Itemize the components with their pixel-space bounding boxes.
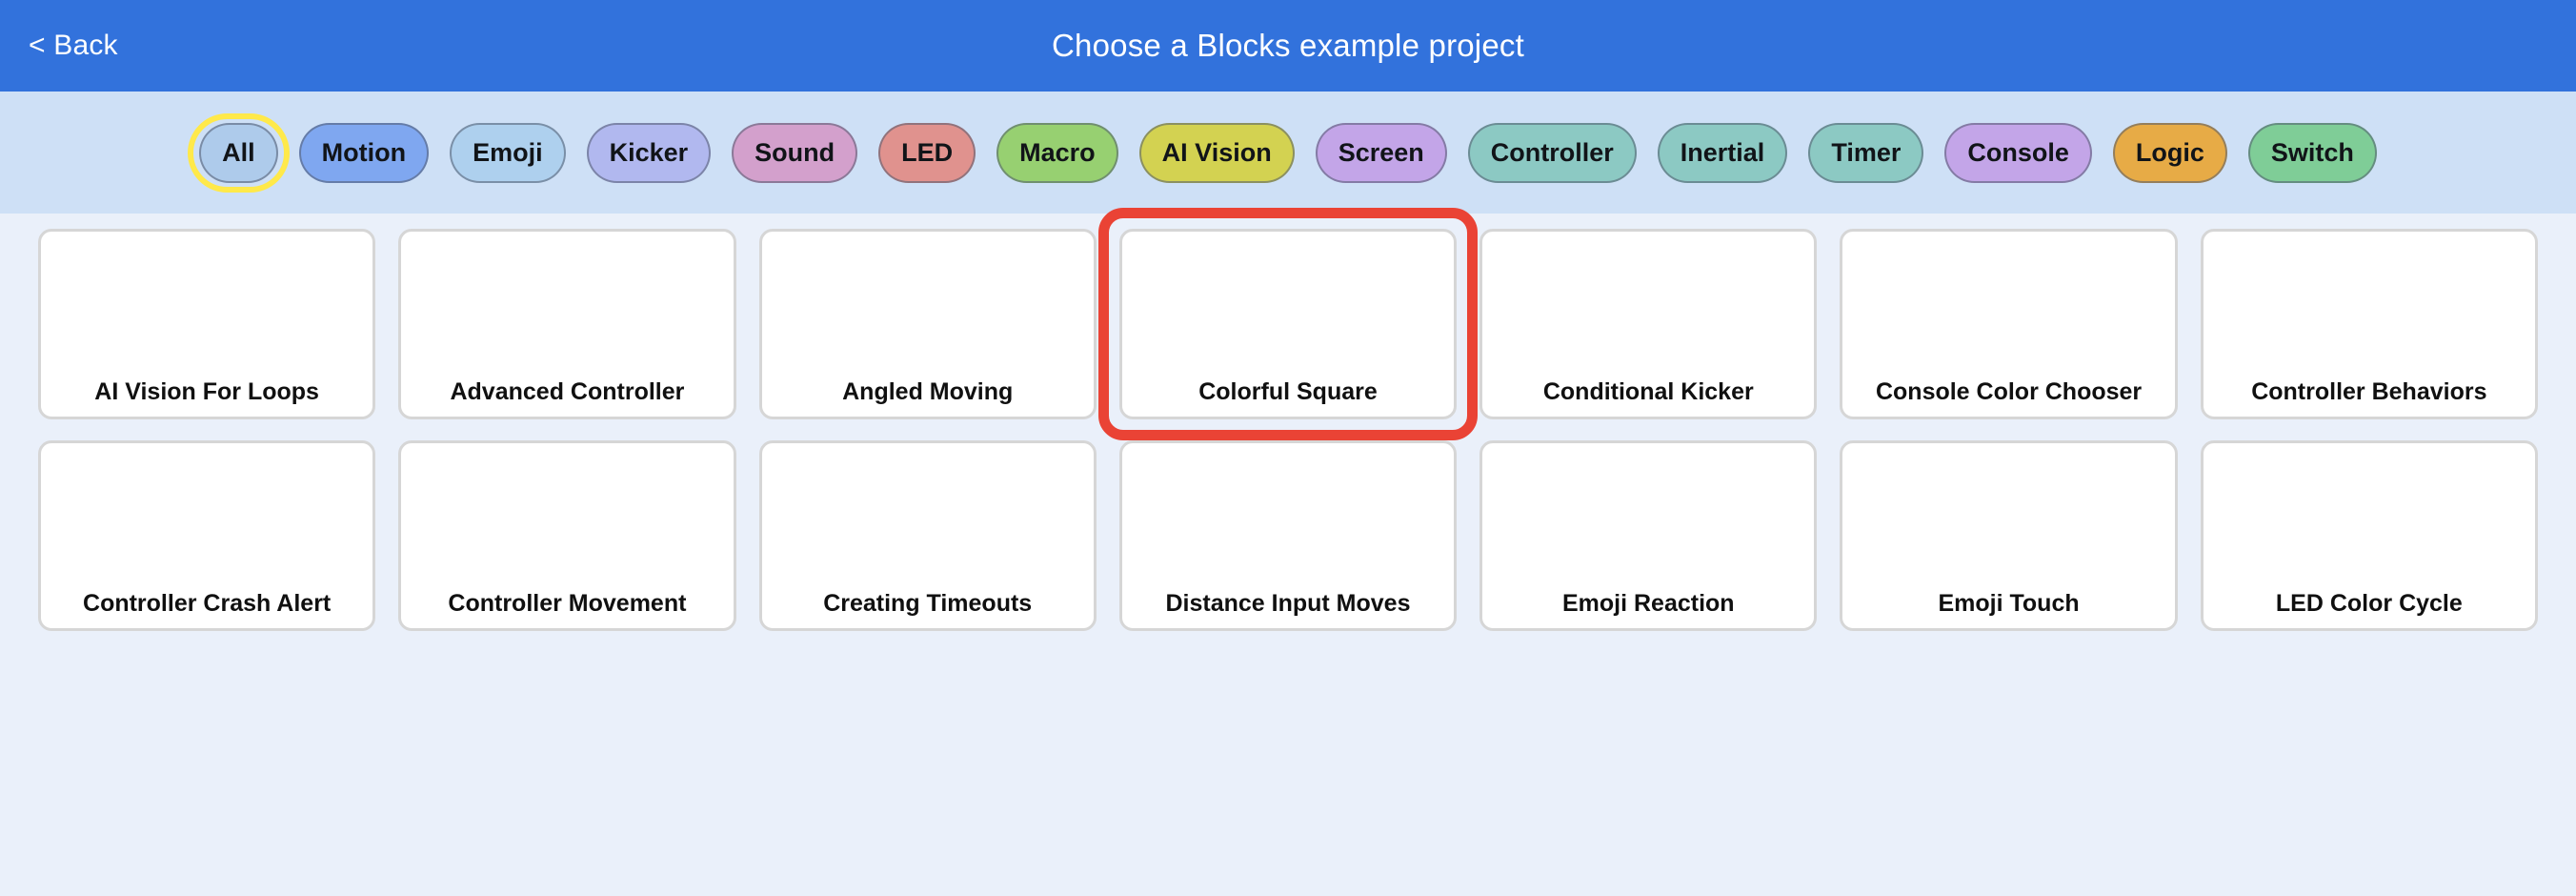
project-card-slot: Colorful Square	[1119, 229, 1457, 419]
filter-chip-label[interactable]: Kicker	[587, 123, 712, 183]
project-card-angled-moving[interactable]: Angled Moving	[759, 229, 1097, 419]
filter-chip-controller[interactable]: Controller	[1468, 123, 1637, 183]
project-card-colorful-square[interactable]: Colorful Square	[1119, 229, 1457, 419]
category-filter-bar: AllMotionEmojiKickerSoundLEDMacroAI Visi…	[0, 92, 2576, 214]
project-card-title: Emoji Reaction	[1557, 592, 1741, 631]
project-card-title: Controller Movement	[442, 592, 692, 631]
filter-chip-label[interactable]: Screen	[1316, 123, 1447, 183]
project-card-slot: Emoji Touch	[1840, 440, 2177, 631]
filter-chip-ai-vision[interactable]: AI Vision	[1139, 123, 1295, 183]
filter-chip-label[interactable]: AI Vision	[1139, 123, 1295, 183]
filter-chip-label[interactable]: Switch	[2248, 123, 2377, 183]
filter-chip-all[interactable]: All	[199, 123, 278, 183]
project-card-slot: Console Color Chooser	[1840, 229, 2177, 419]
project-card-title: Distance Input Moves	[1159, 592, 1416, 631]
project-card-slot: Controller Behaviors	[2201, 229, 2538, 419]
filter-chip-kicker[interactable]: Kicker	[587, 123, 712, 183]
controller-crash-alert-icon	[64, 449, 350, 592]
project-card-slot: Angled Moving	[759, 229, 1097, 419]
colorful-square-icon	[1145, 237, 1431, 380]
project-card-slot: Emoji Reaction	[1479, 440, 1817, 631]
project-card-advanced-controller[interactable]: Advanced Controller	[398, 229, 735, 419]
filter-chip-emoji[interactable]: Emoji	[450, 123, 566, 183]
distance-input-moves-icon	[1145, 449, 1431, 592]
page-title: Choose a Blocks example project	[1052, 28, 1524, 64]
project-card-art	[1122, 443, 1454, 592]
controller-movement-icon	[424, 449, 710, 592]
filter-chip-label[interactable]: LED	[878, 123, 976, 183]
project-card-art	[1842, 232, 2174, 380]
project-card-slot: Controller Crash Alert	[38, 440, 375, 631]
project-card-emoji-reaction[interactable]: Emoji Reaction	[1479, 440, 1817, 631]
project-card-title: Conditional Kicker	[1538, 380, 1760, 419]
filter-chip-console[interactable]: Console	[1944, 123, 2092, 183]
project-card-title: Angled Moving	[836, 380, 1018, 419]
emoji-touch-icon	[1866, 449, 2152, 592]
project-card-controller-crash-alert[interactable]: Controller Crash Alert	[38, 440, 375, 631]
project-card-title: Colorful Square	[1193, 380, 1383, 419]
project-card-slot: AI Vision For Loops	[38, 229, 375, 419]
project-card-art	[2204, 443, 2535, 592]
advanced-controller-icon	[424, 237, 710, 380]
project-card-slot: Controller Movement	[398, 440, 735, 631]
project-card-slot: Creating Timeouts	[759, 440, 1097, 631]
emoji-reaction-icon	[1505, 449, 1791, 592]
project-card-slot: Advanced Controller	[398, 229, 735, 419]
back-button[interactable]: < Back	[19, 24, 128, 68]
project-card-title: Advanced Controller	[444, 380, 690, 419]
project-card-title: AI Vision For Loops	[89, 380, 325, 419]
project-card-slot: LED Color Cycle	[2201, 440, 2538, 631]
ai-vision-for-loops-icon	[64, 237, 350, 380]
filter-chip-label[interactable]: Inertial	[1658, 123, 1788, 183]
project-card-creating-timeouts[interactable]: Creating Timeouts	[759, 440, 1097, 631]
filter-chip-label[interactable]: Controller	[1468, 123, 1637, 183]
project-card-emoji-touch[interactable]: Emoji Touch	[1840, 440, 2177, 631]
filter-chip-sound[interactable]: Sound	[732, 123, 857, 183]
project-card-art	[2204, 232, 2535, 380]
project-card-controller-movement[interactable]: Controller Movement	[398, 440, 735, 631]
project-card-title: Creating Timeouts	[817, 592, 1037, 631]
project-card-art	[41, 443, 372, 592]
project-card-led-color-cycle[interactable]: LED Color Cycle	[2201, 440, 2538, 631]
led-color-cycle-icon	[2226, 449, 2512, 592]
project-card-console-color-chooser[interactable]: Console Color Chooser	[1840, 229, 2177, 419]
project-card-art	[1482, 443, 1814, 592]
filter-chip-label[interactable]: Emoji	[450, 123, 566, 183]
project-card-art	[401, 232, 733, 380]
filter-chip-switch[interactable]: Switch	[2248, 123, 2377, 183]
project-card-art	[762, 232, 1094, 380]
filter-chip-logic[interactable]: Logic	[2113, 123, 2227, 183]
project-card-title: Emoji Touch	[1932, 592, 2084, 631]
project-card-title: Console Color Chooser	[1870, 380, 2147, 419]
filter-chip-screen[interactable]: Screen	[1316, 123, 1447, 183]
filter-chip-label[interactable]: Macro	[996, 123, 1118, 183]
creating-timeouts-icon	[785, 449, 1071, 592]
project-card-art	[401, 443, 733, 592]
controller-behaviors-icon	[2226, 237, 2512, 380]
project-card-art	[41, 232, 372, 380]
filter-chip-inertial[interactable]: Inertial	[1658, 123, 1788, 183]
filter-chip-macro[interactable]: Macro	[996, 123, 1118, 183]
filter-chip-label[interactable]: Sound	[732, 123, 857, 183]
project-card-slot: Conditional Kicker	[1479, 229, 1817, 419]
filter-chip-label[interactable]: Timer	[1808, 123, 1923, 183]
filter-chip-label[interactable]: All	[199, 123, 278, 183]
filter-chip-label[interactable]: Logic	[2113, 123, 2227, 183]
filter-chip-label[interactable]: Motion	[299, 123, 429, 183]
project-card-conditional-kicker[interactable]: Conditional Kicker	[1479, 229, 1817, 419]
project-card-title: Controller Behaviors	[2245, 380, 2492, 419]
project-card-title: Controller Crash Alert	[77, 592, 336, 631]
project-card-art	[762, 443, 1094, 592]
angled-moving-icon	[785, 237, 1071, 380]
example-project-grid: AI Vision For LoopsAdvanced ControllerAn…	[0, 214, 2576, 631]
console-color-chooser-icon	[1866, 237, 2152, 380]
filter-chip-label[interactable]: Console	[1944, 123, 2092, 183]
project-card-art	[1122, 232, 1454, 380]
project-card-art	[1842, 443, 2174, 592]
filter-chip-timer[interactable]: Timer	[1808, 123, 1923, 183]
filter-chip-motion[interactable]: Motion	[299, 123, 429, 183]
conditional-kicker-icon	[1505, 237, 1791, 380]
project-card-ai-vision-for-loops[interactable]: AI Vision For Loops	[38, 229, 375, 419]
project-card-controller-behaviors[interactable]: Controller Behaviors	[2201, 229, 2538, 419]
project-card-art	[1482, 232, 1814, 380]
project-card-distance-input-moves[interactable]: Distance Input Moves	[1119, 440, 1457, 631]
app-header: < Back Choose a Blocks example project	[0, 0, 2576, 92]
filter-chip-led[interactable]: LED	[878, 123, 976, 183]
project-card-slot: Distance Input Moves	[1119, 440, 1457, 631]
project-card-title: LED Color Cycle	[2270, 592, 2468, 631]
